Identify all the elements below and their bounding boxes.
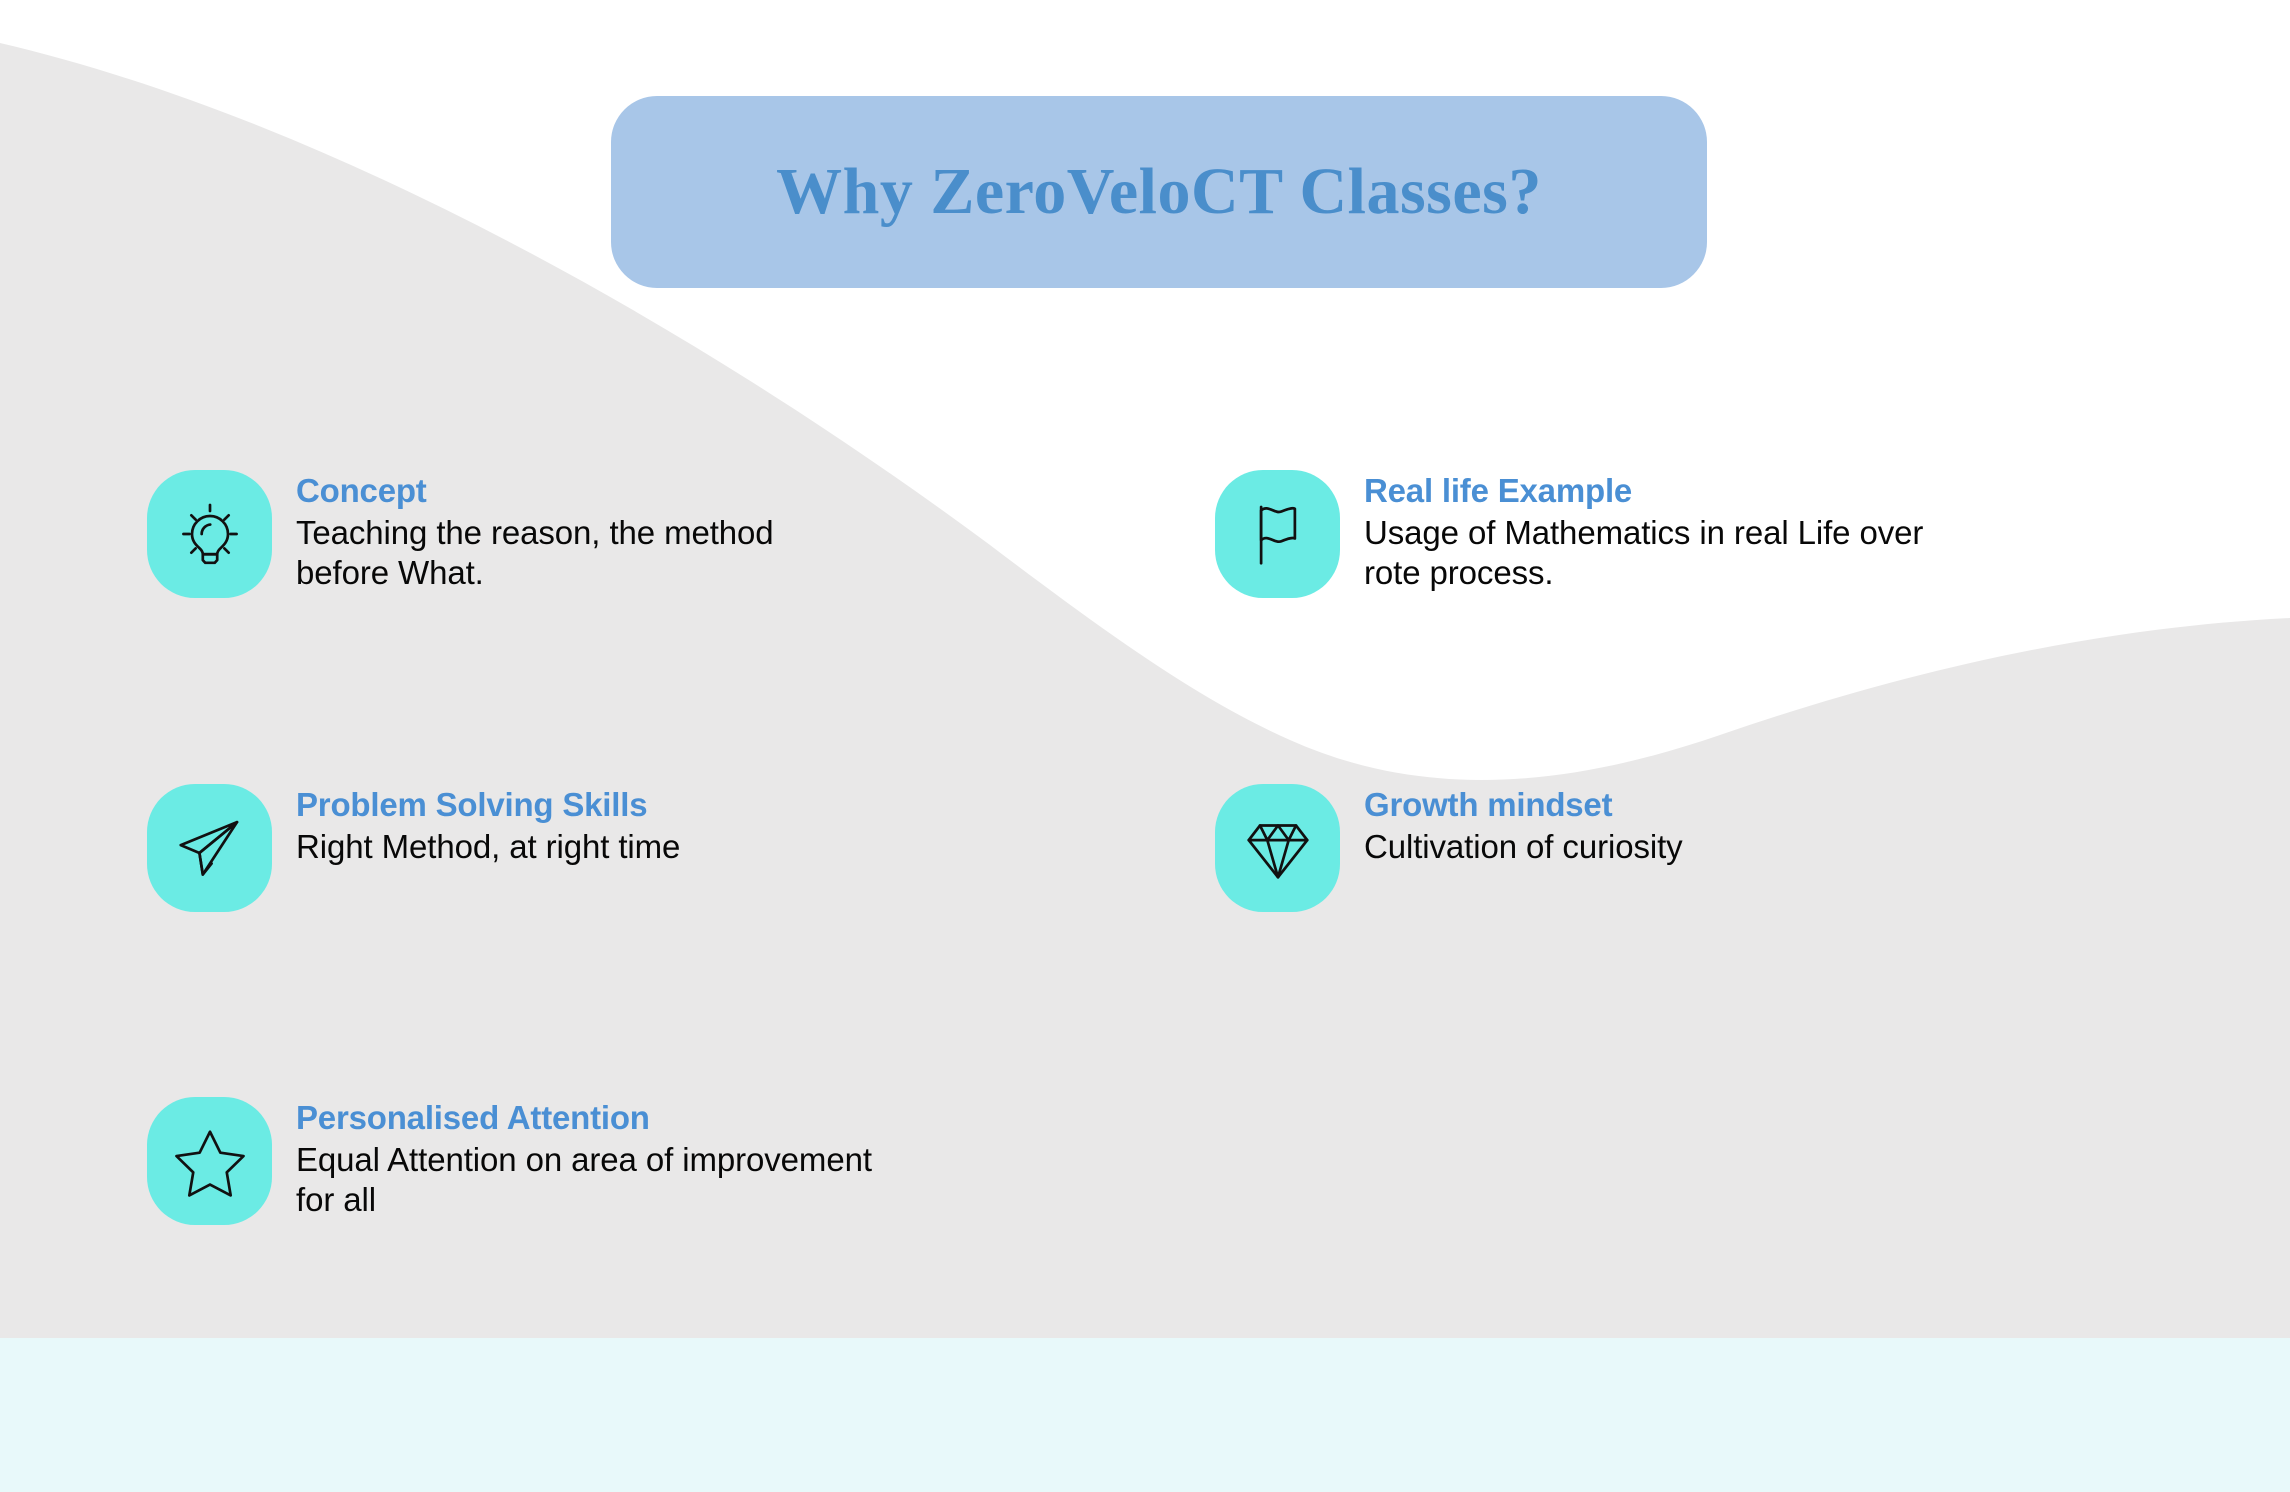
feature-icon-tile (147, 470, 272, 598)
feature-icon-tile (147, 1097, 272, 1225)
slide-title-pill: Why ZeroVeloCT Classes? (611, 96, 1707, 288)
feature-description: Usage of Mathematics in real Life over r… (1364, 513, 1923, 594)
feature-block-concept: Concept Teaching the reason, the method … (147, 470, 774, 598)
feature-description: Cultivation of curiosity (1364, 827, 1683, 867)
feature-block-growth-mindset: Growth mindset Cultivation of curiosity (1215, 784, 1683, 912)
feature-text-group: Problem Solving Skills Right Method, at … (296, 784, 680, 867)
feature-text-group: Real life Example Usage of Mathematics i… (1364, 470, 1923, 593)
feature-block-real-life-example: Real life Example Usage of Mathematics i… (1215, 470, 1923, 598)
feature-text-group: Concept Teaching the reason, the method … (296, 470, 774, 593)
feature-description: Teaching the reason, the method before W… (296, 513, 774, 594)
feature-block-personalised-attention: Personalised Attention Equal Attention o… (147, 1097, 872, 1225)
feature-heading: Concept (296, 473, 774, 510)
star-icon (174, 1125, 246, 1197)
slide-canvas: Why ZeroVeloCT Classes? Concept Teaching… (0, 0, 2290, 1492)
feature-text-group: Growth mindset Cultivation of curiosity (1364, 784, 1683, 867)
feature-heading: Problem Solving Skills (296, 787, 680, 824)
feature-heading: Real life Example (1364, 473, 1923, 510)
flag-icon (1242, 498, 1314, 570)
page-title: Why ZeroVeloCT Classes? (776, 159, 1542, 225)
bottom-cyan-band (0, 1338, 2290, 1492)
paper-plane-icon (174, 812, 246, 884)
feature-icon-tile (1215, 784, 1340, 912)
feature-block-problem-solving-skills: Problem Solving Skills Right Method, at … (147, 784, 680, 912)
feature-icon-tile (1215, 470, 1340, 598)
diamond-icon (1242, 812, 1314, 884)
feature-description: Right Method, at right time (296, 827, 680, 867)
feature-heading: Growth mindset (1364, 787, 1683, 824)
lightbulb-icon (174, 498, 246, 570)
feature-heading: Personalised Attention (296, 1100, 872, 1137)
feature-text-group: Personalised Attention Equal Attention o… (296, 1097, 872, 1220)
feature-icon-tile (147, 784, 272, 912)
feature-description: Equal Attention on area of improvement f… (296, 1140, 872, 1221)
